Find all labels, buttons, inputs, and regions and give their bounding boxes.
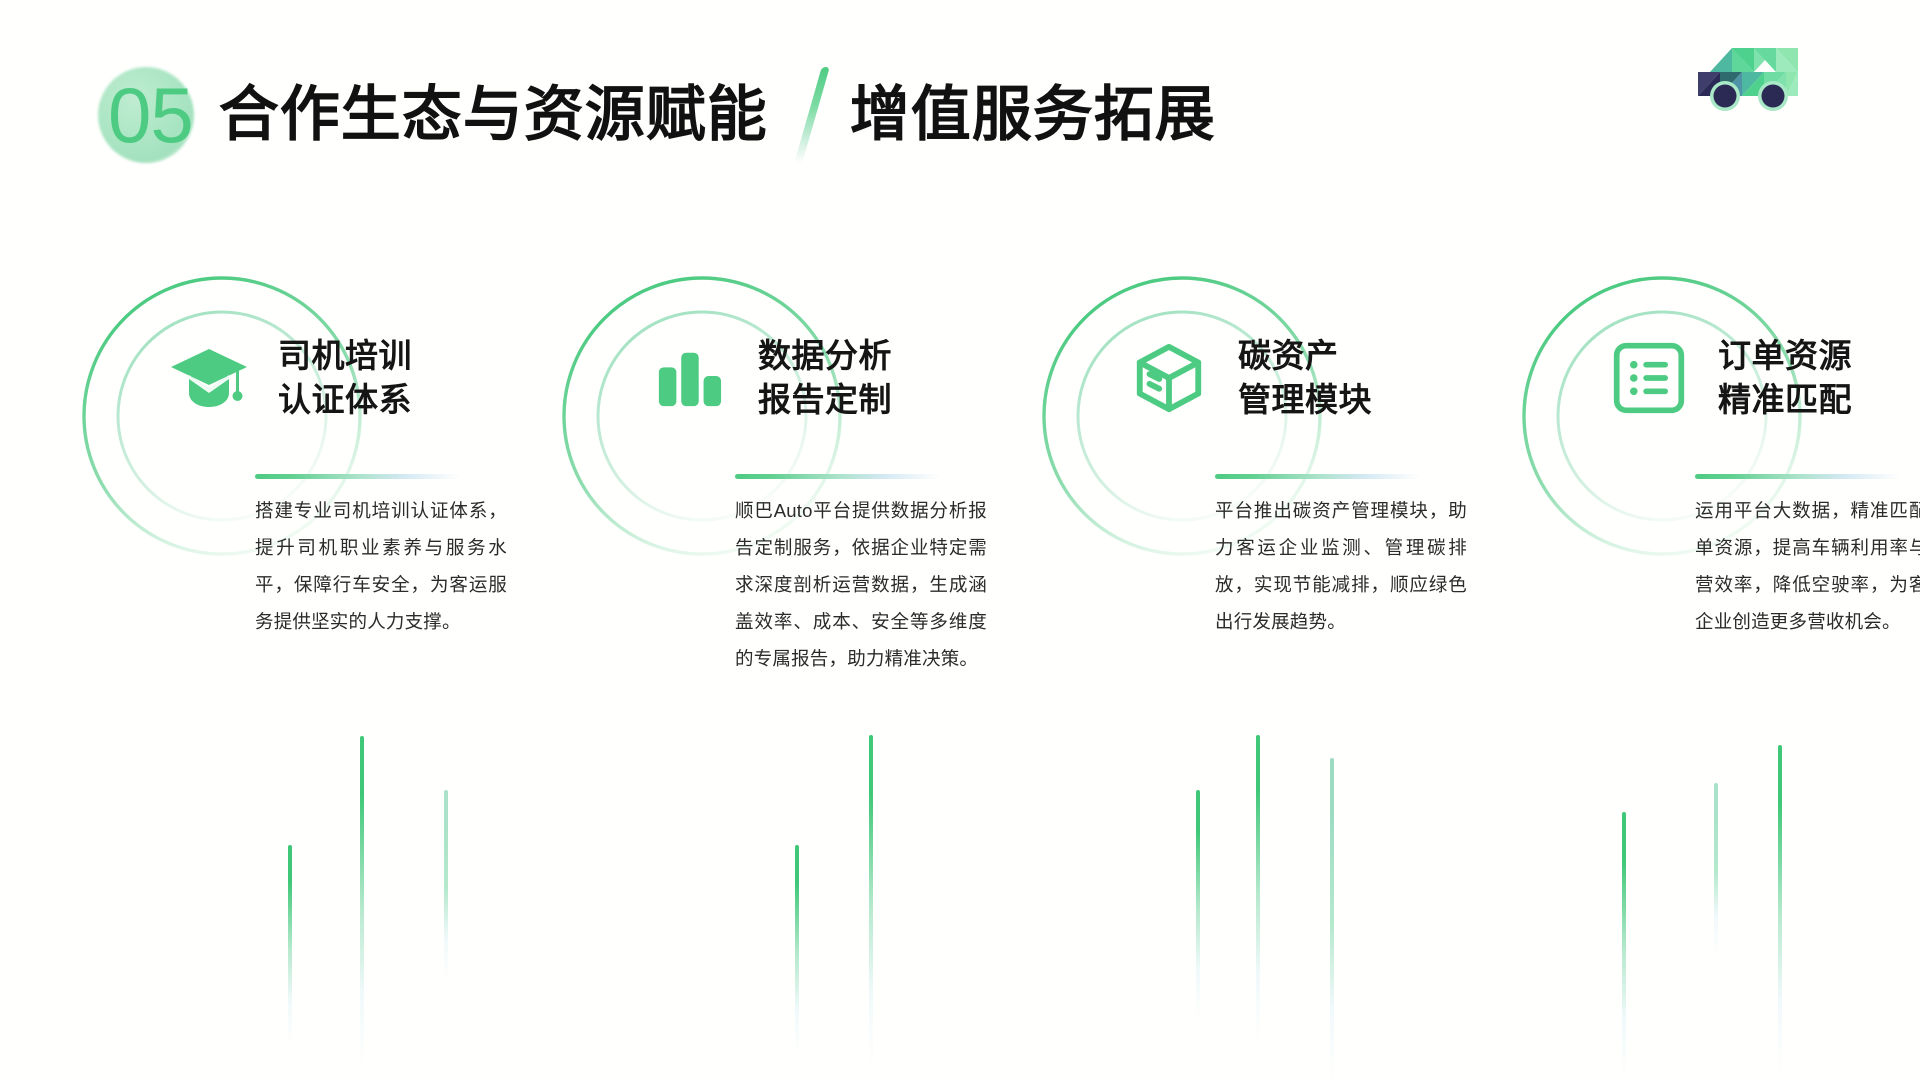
card-2-title-line1: 数据分析 bbox=[758, 334, 892, 378]
decor-bar bbox=[444, 790, 448, 980]
slide-header: 05 合作生态与资源赋能 增值服务拓展 bbox=[108, 60, 1216, 170]
card-2-head: 数据分析 报告定制 bbox=[562, 278, 960, 478]
card-2-title: 数据分析 报告定制 bbox=[758, 334, 892, 421]
feature-card-3[interactable]: 碳资产 管理模块 平台推出碳资产管理模块，助力客运企业监测、管理碳排放，实现节能… bbox=[960, 278, 1440, 478]
card-1-title-line2: 认证体系 bbox=[278, 378, 412, 422]
cube-box-icon bbox=[1126, 335, 1212, 421]
decor-bar bbox=[1196, 790, 1200, 1020]
decor-bar bbox=[1622, 812, 1626, 1077]
card-3-title-line2: 管理模块 bbox=[1238, 378, 1372, 422]
feature-card-2[interactable]: 数据分析 报告定制 顺巴Auto平台提供数据分析报告定制服务，依据企业特定需求深… bbox=[480, 278, 960, 478]
decor-bar bbox=[1778, 745, 1782, 1070]
card-4-body: 运用平台大数据，精准匹配订单资源，提高车辆利用率与运营效率，降低空驶率，为客运企… bbox=[1695, 492, 1920, 640]
card-3-divider bbox=[1215, 474, 1420, 479]
card-2-body: 顺巴Auto平台提供数据分析报告定制服务，依据企业特定需求深度剖析运营数据，生成… bbox=[735, 492, 987, 677]
section-number: 05 bbox=[108, 76, 193, 154]
decor-bar bbox=[1256, 735, 1260, 1040]
decor-bar bbox=[1714, 783, 1718, 953]
card-1-title: 司机培训 认证体系 bbox=[278, 334, 412, 421]
section-number-wrap: 05 bbox=[108, 76, 193, 154]
card-4-title: 订单资源 精准匹配 bbox=[1718, 334, 1852, 421]
bar-chart-icon bbox=[646, 335, 732, 421]
title-slash-divider bbox=[794, 67, 830, 163]
card-2-divider bbox=[735, 474, 940, 479]
card-4-divider bbox=[1695, 474, 1900, 479]
card-3-title-line1: 碳资产 bbox=[1238, 334, 1372, 378]
decor-bar bbox=[288, 845, 292, 1045]
card-3-body: 平台推出碳资产管理模块，助力客运企业监测、管理碳排放，实现节能减排，顺应绿色出行… bbox=[1215, 492, 1467, 640]
decor-bar bbox=[795, 845, 799, 1055]
graduation-cap-icon bbox=[166, 335, 252, 421]
card-3-title: 碳资产 管理模块 bbox=[1238, 334, 1372, 421]
card-3-head: 碳资产 管理模块 bbox=[1042, 278, 1440, 478]
feature-card-4[interactable]: 订单资源 精准匹配 运用平台大数据，精准匹配订单资源，提高车辆利用率与运营效率，… bbox=[1440, 278, 1920, 478]
decor-bar bbox=[1330, 758, 1334, 1078]
card-1-divider bbox=[255, 474, 460, 479]
card-1-head: 司机培训 认证体系 bbox=[82, 278, 480, 478]
page-title: 合作生态与资源赋能 bbox=[219, 85, 768, 145]
page-subtitle: 增值服务拓展 bbox=[850, 85, 1216, 145]
card-1-body: 搭建专业司机培训认证体系，提升司机职业素养与服务水平，保障行车安全，为客运服务提… bbox=[255, 492, 507, 640]
card-1-title-line1: 司机培训 bbox=[278, 334, 412, 378]
feature-card-1[interactable]: 司机培训 认证体系 搭建专业司机培训认证体系，提升司机职业素养与服务水平，保障行… bbox=[0, 278, 480, 478]
card-4-title-line1: 订单资源 bbox=[1718, 334, 1852, 378]
decor-bar bbox=[360, 736, 364, 1066]
card-2-title-line2: 报告定制 bbox=[758, 378, 892, 422]
slide-root: 05 合作生态与资源赋能 增值服务拓展 bbox=[0, 0, 1920, 1080]
shunba-auto-car-logo bbox=[1692, 38, 1810, 118]
card-4-head: 订单资源 精准匹配 bbox=[1522, 278, 1920, 478]
list-checklist-icon bbox=[1606, 335, 1692, 421]
decor-bar bbox=[869, 735, 873, 1065]
feature-cards: 司机培训 认证体系 搭建专业司机培训认证体系，提升司机职业素养与服务水平，保障行… bbox=[0, 278, 1920, 478]
card-4-title-line2: 精准匹配 bbox=[1718, 378, 1852, 422]
